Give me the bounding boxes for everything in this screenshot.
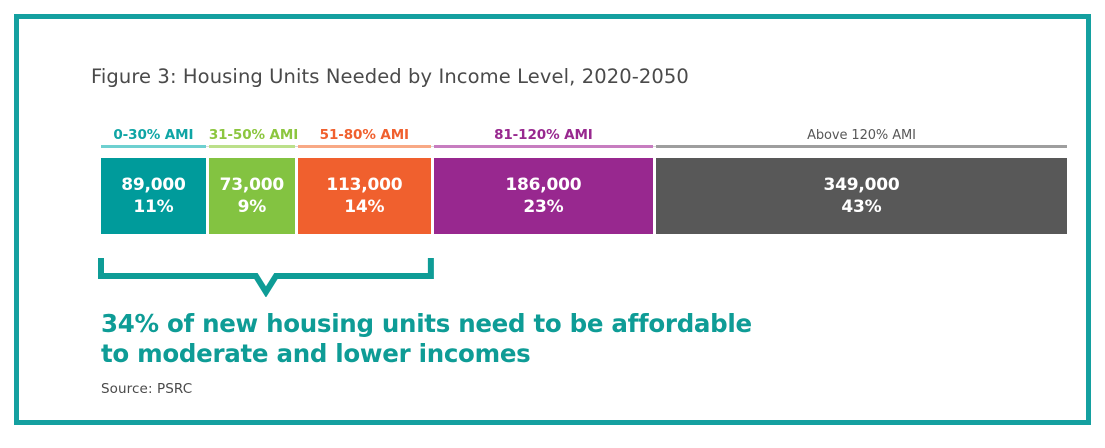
label-rule-gap <box>295 146 298 147</box>
figure-frame: Figure 3: Housing Units Needed by Income… <box>14 14 1091 425</box>
segment-value: 73,000 <box>220 174 284 196</box>
segment-percent: 9% <box>238 196 266 218</box>
category-underline <box>656 145 1067 148</box>
bar-segment: 89,00011% <box>101 158 206 234</box>
label-rule-gap <box>653 146 656 147</box>
bar-segment: 73,0009% <box>209 158 295 234</box>
callout-line-2: to moderate and lower incomes <box>101 339 801 369</box>
segment-percent: 43% <box>841 196 881 218</box>
category-underline <box>209 145 295 148</box>
segment-value: 349,000 <box>823 174 899 196</box>
segment-value: 89,000 <box>121 174 185 196</box>
category-label-text: Above 120% AMI <box>807 128 916 143</box>
category-label-text: 0-30% AMI <box>113 127 193 143</box>
segment-percent: 23% <box>523 196 563 218</box>
bar-segment: 349,00043% <box>656 158 1067 234</box>
category-label-text: 31-50% AMI <box>209 127 298 143</box>
segment-percent: 11% <box>133 196 173 218</box>
category-label: 0-30% AMI <box>101 127 206 151</box>
source-note: Source: PSRC <box>101 381 192 397</box>
affordability-bracket <box>97 255 435 297</box>
label-rule-gap <box>431 146 434 147</box>
segment-value: 186,000 <box>505 174 581 196</box>
category-label-row: 0-30% AMI31-50% AMI51-80% AMI81-120% AMI… <box>101 127 1067 151</box>
category-underline <box>101 145 206 148</box>
category-label-text: 81-120% AMI <box>494 127 593 143</box>
bar-segment: 113,00014% <box>298 158 431 234</box>
category-label: 81-120% AMI <box>434 127 653 151</box>
category-underline <box>298 145 431 148</box>
segment-percent: 14% <box>344 196 384 218</box>
category-label: 31-50% AMI <box>209 127 295 151</box>
category-label-text: 51-80% AMI <box>320 127 409 143</box>
callout-line-1: 34% of new housing units need to be affo… <box>101 309 752 338</box>
category-underline <box>434 145 653 148</box>
category-label: Above 120% AMI <box>656 127 1067 151</box>
segment-value: 113,000 <box>326 174 402 196</box>
bar-segment: 186,00023% <box>434 158 653 234</box>
stacked-bar-chart: 89,00011%73,0009%113,00014%186,00023%349… <box>101 158 1067 234</box>
category-label: 51-80% AMI <box>298 127 431 151</box>
callout-text: 34% of new housing units need to be affo… <box>101 309 801 369</box>
bracket-icon <box>97 255 435 297</box>
label-rule-gap <box>206 146 209 147</box>
figure-title: Figure 3: Housing Units Needed by Income… <box>91 65 689 88</box>
